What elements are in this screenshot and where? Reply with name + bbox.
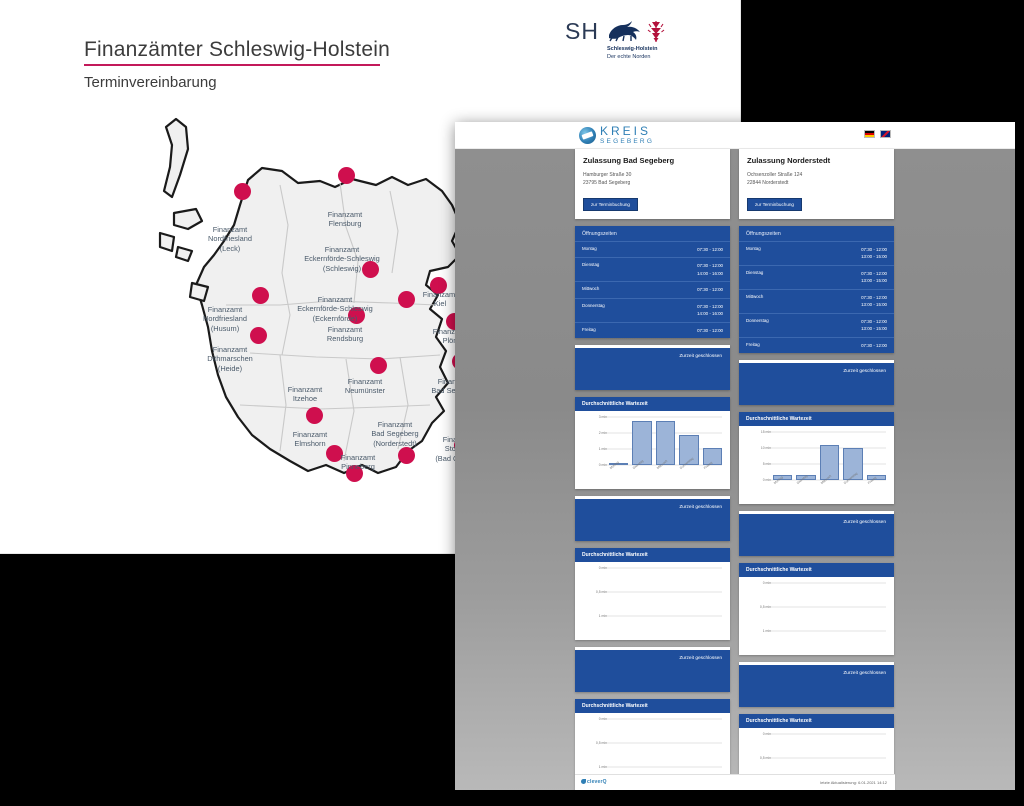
opening-hours-panel: ÖffnungszeitenMontag07:30 - 12:00Diensta… xyxy=(575,226,730,338)
opening-hours-times: 07:30 - 12:0014:00 - 16:00 xyxy=(697,303,723,318)
chart-y-tick: 2 min xyxy=(599,431,607,435)
opening-hours-time: 13:00 - 15:00 xyxy=(861,325,887,332)
opening-hours-times: 07:30 - 12:0013:00 - 15:00 xyxy=(861,246,887,261)
status-badge: Zurzeit geschlossen xyxy=(575,345,730,390)
site-header: KREIS SEGEBERG xyxy=(455,122,1015,149)
kreis-logo-mark-icon xyxy=(579,127,596,144)
opening-hours-time: 07:30 - 12:00 xyxy=(697,286,723,293)
opening-hours-time: 07:30 - 12:00 xyxy=(697,303,723,310)
opening-hours-row: Freitag07:30 - 12:00 xyxy=(575,322,730,338)
map-marker xyxy=(338,167,355,184)
booking-button[interactable]: zur Terminbuchung xyxy=(747,198,802,211)
map-label-line: Finanzamt xyxy=(355,420,435,429)
opening-hours-day: Dienstag xyxy=(746,270,763,275)
chart-gridline xyxy=(771,631,886,632)
logo-caption: Schleswig-Holstein Der echte Norden xyxy=(607,45,657,62)
opening-hours-times: 07:30 - 12:00 xyxy=(861,342,887,349)
chart-plot-area: 1 min0,5 min0 min xyxy=(575,562,730,640)
opening-hours-time: 07:30 - 12:00 xyxy=(697,246,723,253)
office-card-body: Zulassung NorderstedtOchsenzoller Straße… xyxy=(739,149,894,219)
chart-title: Durchschnittliche Wartezeit xyxy=(739,412,894,426)
opening-hours-title: Öffnungszeiten xyxy=(739,226,894,241)
office-card-body: Zulassung Bad SegebergHamburger Straße 3… xyxy=(575,149,730,219)
site-footer: cleverQ letzte Aktualisierung: 6.01.2021… xyxy=(575,774,895,790)
office-address-line: Ochsenzoller Straße 124 xyxy=(747,171,886,179)
map-label-line: Eckernförde-Schleswig xyxy=(295,304,375,313)
map-marker xyxy=(252,287,269,304)
map-label: FinanzamtElmshorn xyxy=(270,430,350,449)
map-label: FinanzamtNordfriesland(Leck) xyxy=(190,225,270,253)
office-address: Ochsenzoller Straße 12422844 Norderstedt xyxy=(747,171,886,187)
cleverq-brand: cleverQ xyxy=(581,779,607,785)
opening-hours-day: Mittwoch xyxy=(582,286,599,291)
chart-gridline xyxy=(607,767,722,768)
chart-plot-area: 1 min0,5 min0 min xyxy=(739,577,894,655)
map-label-line: Finanzamt xyxy=(318,453,398,462)
map-label-line: Finanzamt xyxy=(265,385,345,394)
opening-hours-time: 07:30 - 12:00 xyxy=(861,270,887,277)
opening-hours-times: 07:30 - 12:0013:00 - 15:00 xyxy=(861,318,887,333)
chart-y-tick: 0 min xyxy=(599,566,607,570)
opening-hours-day: Montag xyxy=(746,246,761,251)
opening-hours-time: 14:00 - 16:00 xyxy=(697,270,723,277)
chart-title: Durchschnittliche Wartezeit xyxy=(739,714,894,728)
status-badge: Zurzeit geschlossen xyxy=(575,496,730,541)
chart-y-tick: 0,5 min xyxy=(760,605,771,609)
map-label-line: (Eckernförde) xyxy=(295,314,375,323)
chart-title: Durchschnittliche Wartezeit xyxy=(575,397,730,411)
map-label-line: Itzehoe xyxy=(265,394,345,403)
map-label-line: Finanzamt xyxy=(270,430,350,439)
coat-of-arms-icon xyxy=(607,20,673,42)
chart-y-tick: 1 min xyxy=(763,629,771,633)
chart-y-axis: 0 min5 min10 min15 min xyxy=(745,432,771,480)
map-label: FinanzamtNordfriesland(Husum) xyxy=(185,305,265,333)
chart-gridline xyxy=(771,583,886,584)
map-label: FinanzamtItzehoe xyxy=(265,385,345,404)
opening-hours-day: Donnerstag xyxy=(582,303,605,308)
chart-y-tick: 5 min xyxy=(763,462,771,466)
chart-gridline xyxy=(607,568,722,569)
office-address-line: 23795 Bad Segeberg xyxy=(583,179,722,187)
cleverq-brand-label: cleverQ xyxy=(587,779,607,785)
booking-button[interactable]: zur Terminbuchung xyxy=(583,198,638,211)
map-label-line: Rendsburg xyxy=(305,334,385,343)
map-label-line: Dithmarschen xyxy=(190,354,270,363)
chart-y-tick: 0 min xyxy=(763,732,771,736)
opening-hours-row: Mittwoch07:30 - 12:0013:00 - 15:00 xyxy=(739,289,894,313)
opening-hours-time: 07:30 - 12:00 xyxy=(861,318,887,325)
map-label: FinanzamtEckernförde-Schleswig(Eckernför… xyxy=(295,295,375,323)
opening-hours-row: Montag07:30 - 12:0013:00 - 15:00 xyxy=(739,241,894,265)
map-label-line: Flensburg xyxy=(305,219,385,228)
chart-plot-area: 0 min1 min2 min3 minMontagDienstagMittwo… xyxy=(575,411,730,489)
chart-y-tick: 0 min xyxy=(599,717,607,721)
opening-hours-times: 07:30 - 12:00 xyxy=(697,327,723,334)
status-badge: Zurzeit geschlossen xyxy=(739,360,894,405)
map-label-line: Nordfriesland xyxy=(185,314,265,323)
map-label-line: Finanzamt xyxy=(302,245,382,254)
map-label: FinanzamtDithmarschen(Heide) xyxy=(190,345,270,373)
kreis-logo-line2: SEGEBERG xyxy=(600,139,654,146)
status-label: Zurzeit geschlossen xyxy=(843,520,886,525)
opening-hours-time: 13:00 - 15:00 xyxy=(861,253,887,260)
map-label-line: Finanzamt xyxy=(190,225,270,234)
opening-hours-title: Öffnungszeiten xyxy=(575,226,730,241)
chart-title: Durchschnittliche Wartezeit xyxy=(575,548,730,562)
status-label: Zurzeit geschlossen xyxy=(679,505,722,510)
map-label-line: (Heide) xyxy=(190,364,270,373)
chart-y-tick: 0,5 min xyxy=(760,756,771,760)
opening-hours-time: 13:00 - 15:00 xyxy=(861,277,887,284)
office-address-line: 22844 Norderstedt xyxy=(747,179,886,187)
schleswig-holstein-logo: SH Schleswig-Holstein Der echte Norden xyxy=(565,18,675,66)
location-column: Zulassung NorderstedtOchsenzoller Straße… xyxy=(739,149,894,790)
status-label: Zurzeit geschlossen xyxy=(843,671,886,676)
chart-y-tick: 1 min xyxy=(599,765,607,769)
map-label: FinanzamtPinneberg xyxy=(318,453,398,472)
opening-hours-row: Donnerstag07:30 - 12:0014:00 - 16:00 xyxy=(575,298,730,322)
chart-y-tick: 1 min xyxy=(599,447,607,451)
status-label: Zurzeit geschlossen xyxy=(679,656,722,661)
opening-hours-row: Dienstag07:30 - 12:0013:00 - 15:00 xyxy=(739,265,894,289)
opening-hours-time: 07:30 - 12:00 xyxy=(861,342,887,349)
waiting-time-chart: Durchschnittliche Wartezeit0 min1 min2 m… xyxy=(575,397,730,489)
chart-y-tick: 0,5 min xyxy=(596,741,607,745)
site-body: Zulassung Bad SegebergHamburger Straße 3… xyxy=(455,149,1015,790)
location-columns: Zulassung Bad SegebergHamburger Straße 3… xyxy=(575,149,895,790)
status-badge: Zurzeit geschlossen xyxy=(739,662,894,707)
map-label-line: Nordfriesland xyxy=(190,234,270,243)
chart-y-tick: 1 min xyxy=(599,614,607,618)
language-switcher[interactable] xyxy=(864,130,891,138)
flag-de-icon[interactable] xyxy=(864,130,875,138)
map-label: FinanzamtEckernförde-Schleswig(Schleswig… xyxy=(302,245,382,273)
opening-hours-time: 07:30 - 12:00 xyxy=(697,327,723,334)
chart-x-labels: MontagDienstagMittwochDonnerstagFreitag xyxy=(773,482,886,486)
chart-y-tick: 0 min xyxy=(763,478,771,482)
kreis-segeberg-logo[interactable]: KREIS SEGEBERG xyxy=(579,125,654,146)
chart-gridline xyxy=(771,758,886,759)
map-label-line: (Husum) xyxy=(185,324,265,333)
map-label-line: Finanzamt xyxy=(190,345,270,354)
chart-y-tick: 15 min xyxy=(761,430,771,434)
chart-gridline xyxy=(607,743,722,744)
waiting-time-chart: Durchschnittliche Wartezeit1 min0,5 min0… xyxy=(739,563,894,655)
chart-title: Durchschnittliche Wartezeit xyxy=(739,563,894,577)
flag-en-icon[interactable] xyxy=(880,130,891,138)
map-label-line: Eckernförde-Schleswig xyxy=(302,254,382,263)
opening-hours-day: Montag xyxy=(582,246,597,251)
chart-gridline xyxy=(607,616,722,617)
chart-y-axis: 0 min1 min2 min3 min xyxy=(581,417,607,465)
opening-hours-time: 14:00 - 16:00 xyxy=(697,310,723,317)
location-column: Zulassung Bad SegebergHamburger Straße 3… xyxy=(575,149,730,790)
map-marker xyxy=(234,183,251,200)
opening-hours-day: Freitag xyxy=(746,342,760,347)
cleverq-logo-icon xyxy=(581,779,586,784)
title-underline xyxy=(84,64,380,66)
status-badge: Zurzeit geschlossen xyxy=(739,511,894,556)
map-marker xyxy=(306,407,323,424)
browser-window: KREIS SEGEBERG Zulassung Bad SegebergHam… xyxy=(455,122,1015,790)
map-label-line: (Leck) xyxy=(190,244,270,253)
opening-hours-times: 07:30 - 12:0013:00 - 15:00 xyxy=(861,270,887,285)
opening-hours-times: 07:30 - 12:0014:00 - 16:00 xyxy=(697,262,723,277)
logo-monogram: SH xyxy=(565,18,599,45)
status-label: Zurzeit geschlossen xyxy=(679,354,722,359)
map-label-line: (Schleswig) xyxy=(302,264,382,273)
waiting-time-chart: Durchschnittliche Wartezeit1 min0,5 min0… xyxy=(575,548,730,640)
chart-y-axis: 1 min0,5 min0 min xyxy=(581,719,607,767)
chart-y-axis: 1 min0,5 min0 min xyxy=(581,568,607,616)
chart-gridline xyxy=(607,592,722,593)
map-marker xyxy=(370,357,387,374)
chart-y-tick: 0,5 min xyxy=(596,590,607,594)
last-updated-label: letzte Aktualisierung: 6.01.2021 14:12 xyxy=(820,780,887,785)
map-label-line: Finanzamt xyxy=(305,325,385,334)
opening-hours-day: Mittwoch xyxy=(746,294,763,299)
waiting-time-chart: Durchschnittliche Wartezeit0 min5 min10 … xyxy=(739,412,894,504)
chart-title: Durchschnittliche Wartezeit xyxy=(575,699,730,713)
chart-y-tick: 3 min xyxy=(599,415,607,419)
office-title: Zulassung Bad Segeberg xyxy=(583,156,722,165)
office-address-line: Hamburger Straße 30 xyxy=(583,171,722,179)
opening-hours-day: Dienstag xyxy=(582,262,599,267)
office-title: Zulassung Norderstedt xyxy=(747,156,886,165)
opening-hours-row: Donnerstag07:30 - 12:0013:00 - 15:00 xyxy=(739,313,894,337)
opening-hours-panel: ÖffnungszeitenMontag07:30 - 12:0013:00 -… xyxy=(739,226,894,353)
map-label-line: Finanzamt xyxy=(185,305,265,314)
opening-hours-row: Montag07:30 - 12:00 xyxy=(575,241,730,257)
page-subtitle: Terminvereinbarung xyxy=(84,74,217,91)
chart-y-tick: 10 min xyxy=(761,446,771,450)
status-badge: Zurzeit geschlossen xyxy=(575,647,730,692)
chart-gridline xyxy=(771,734,886,735)
map-label-line: Finanzamt xyxy=(305,210,385,219)
opening-hours-row: Freitag07:30 - 12:00 xyxy=(739,337,894,353)
opening-hours-row: Mittwoch07:30 - 12:00 xyxy=(575,281,730,297)
opening-hours-times: 07:30 - 12:0013:00 - 15:00 xyxy=(861,294,887,309)
opening-hours-time: 13:00 - 15:00 xyxy=(861,301,887,308)
opening-hours-time: 07:30 - 12:00 xyxy=(861,246,887,253)
page-title: Finanzämter Schleswig-Holstein xyxy=(84,38,390,62)
chart-y-tick: 0 min xyxy=(763,581,771,585)
locations-grid: Zulassung Bad SegebergHamburger Straße 3… xyxy=(575,149,895,790)
office-address: Hamburger Straße 3023795 Bad Segeberg xyxy=(583,171,722,187)
opening-hours-times: 07:30 - 12:00 xyxy=(697,286,723,293)
map-label-line: Pinneberg xyxy=(318,462,398,471)
kreis-logo-line1: KREIS xyxy=(600,125,654,137)
chart-gridline xyxy=(607,719,722,720)
logo-caption-line1: Schleswig-Holstein xyxy=(607,45,657,53)
office-card: Zulassung Bad SegebergHamburger Straße 3… xyxy=(575,149,730,219)
chart-y-axis: 1 min0,5 min0 min xyxy=(745,583,771,631)
map-label: FinanzamtFlensburg xyxy=(305,210,385,229)
map-label-line: Elmshorn xyxy=(270,439,350,448)
chart-y-tick: 0 min xyxy=(599,463,607,467)
opening-hours-times: 07:30 - 12:00 xyxy=(697,246,723,253)
chart-gridline xyxy=(771,607,886,608)
opening-hours-day: Freitag xyxy=(582,327,596,332)
status-label: Zurzeit geschlossen xyxy=(843,369,886,374)
office-card: Zulassung NorderstedtOchsenzoller Straße… xyxy=(739,149,894,219)
logo-caption-line2: Der echte Norden xyxy=(607,53,657,61)
opening-hours-day: Donnerstag xyxy=(746,318,769,323)
chart-plot-area: 0 min5 min10 min15 minMontagDienstagMitt… xyxy=(739,426,894,504)
opening-hours-time: 07:30 - 12:00 xyxy=(697,262,723,269)
chart-x-labels: MontagDienstagMittwochDonnerstagFreitag xyxy=(609,467,722,471)
map-label-line: Finanzamt xyxy=(295,295,375,304)
opening-hours-time: 07:30 - 12:00 xyxy=(861,294,887,301)
map-marker xyxy=(398,447,415,464)
map-label: FinanzamtRendsburg xyxy=(305,325,385,344)
opening-hours-row: Dienstag07:30 - 12:0014:00 - 16:00 xyxy=(575,257,730,281)
